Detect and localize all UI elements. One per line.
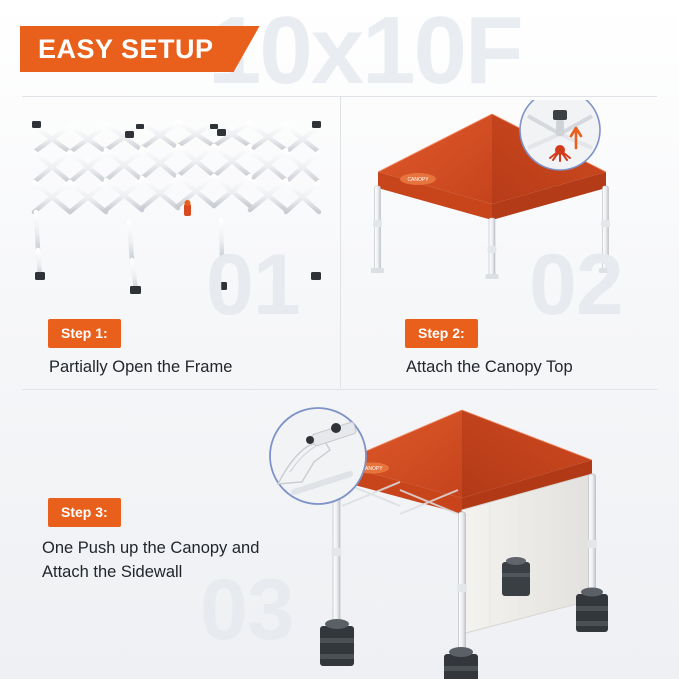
weight-bag-rear: [502, 557, 530, 596]
weight-bag-left: [320, 619, 354, 666]
svg-text:CANOPY: CANOPY: [407, 177, 429, 183]
divider-middle: [22, 389, 657, 390]
ghost-number-02: 02: [529, 236, 623, 335]
weight-bag-center: [444, 647, 478, 679]
push-lever-zoom: [270, 408, 366, 504]
easy-setup-banner: EASY SETUP: [20, 26, 260, 72]
banner-arrow-shape: [234, 26, 260, 72]
ghost-number-01: 01: [206, 236, 300, 335]
center-pull-detail: [184, 200, 191, 216]
step-3-pill: Step 3:: [48, 498, 121, 527]
step-2-pill: Step 2:: [405, 319, 478, 348]
step-1-caption: Partially Open the Frame: [49, 356, 232, 380]
peak-detail-zoom: [520, 100, 600, 170]
step-3-caption-line1: One Push up the Canopy and: [42, 537, 259, 561]
infographic-page: 10x10F EASY SETUP: [0, 0, 679, 679]
divider-vertical: [340, 96, 341, 388]
step-3-caption-line2: Attach the Sidewall: [42, 561, 182, 585]
brand-badge: CANOPY: [400, 173, 436, 185]
step3-illustration: CANOPY: [250, 398, 675, 679]
step-1-pill: Step 1:: [48, 319, 121, 348]
easy-setup-label: EASY SETUP: [20, 26, 234, 72]
ghost-number-03: 03: [200, 561, 294, 660]
step-2-caption: Attach the Canopy Top: [406, 356, 573, 380]
weight-bag-right: [576, 588, 608, 633]
